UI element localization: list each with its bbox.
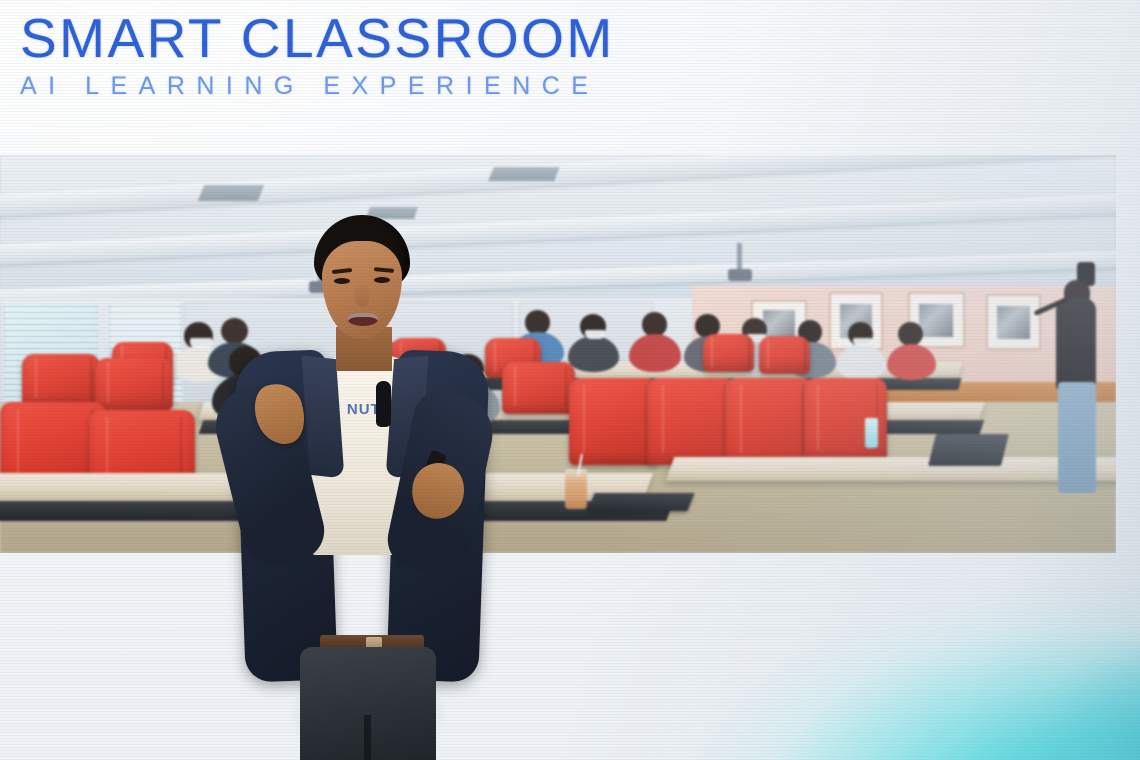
speaker-eye (334, 278, 350, 284)
water-bottle (865, 418, 878, 448)
lecture-chair (569, 378, 658, 466)
audience-head (898, 322, 923, 346)
lecture-chair (703, 334, 754, 372)
audience-body (629, 334, 680, 372)
lecture-chair (22, 354, 100, 406)
slide-subtitle: AI LEARNING EXPERIENCE (20, 72, 780, 101)
classroom-photo (0, 155, 1116, 553)
audience-body (568, 336, 619, 372)
lecture-chair (725, 378, 814, 466)
lecture-chair (647, 378, 736, 466)
face-mask (190, 338, 212, 348)
lecture-chair (759, 336, 810, 374)
face-mask (585, 330, 605, 339)
standing-presenter-body (1056, 298, 1096, 390)
lapel-microphone-icon (376, 381, 391, 427)
framed-picture (988, 296, 1039, 348)
speaker-nose (354, 285, 370, 307)
iced-coffee-cup (565, 469, 587, 509)
closed-laptop (588, 493, 696, 511)
slide-title: SMART CLASSROOM (20, 10, 780, 68)
audience-body (837, 344, 886, 380)
lecture-chair (502, 362, 575, 414)
ceiling-vent (198, 185, 264, 201)
presentation-stage: SMART CLASSROOM AI LEARNING EXPERIENCE (0, 0, 1140, 760)
trouser-seam (364, 715, 371, 760)
lecture-desk (665, 457, 1116, 481)
speaker-eye (374, 277, 390, 283)
audience-body (887, 344, 936, 380)
ceiling-projector (737, 243, 742, 269)
face-mask (853, 338, 872, 346)
slide-heading: SMART CLASSROOM AI LEARNING EXPERIENCE (20, 10, 780, 101)
teal-gradient-blob-secondary (900, 600, 1140, 760)
ceiling-vent (488, 167, 560, 181)
standing-presenter-legs (1058, 382, 1096, 493)
speaker-mouth (348, 313, 378, 326)
lecture-chair (95, 358, 173, 410)
speaker-figure: NUTO (228, 215, 498, 760)
desk-monitor (928, 434, 1008, 466)
